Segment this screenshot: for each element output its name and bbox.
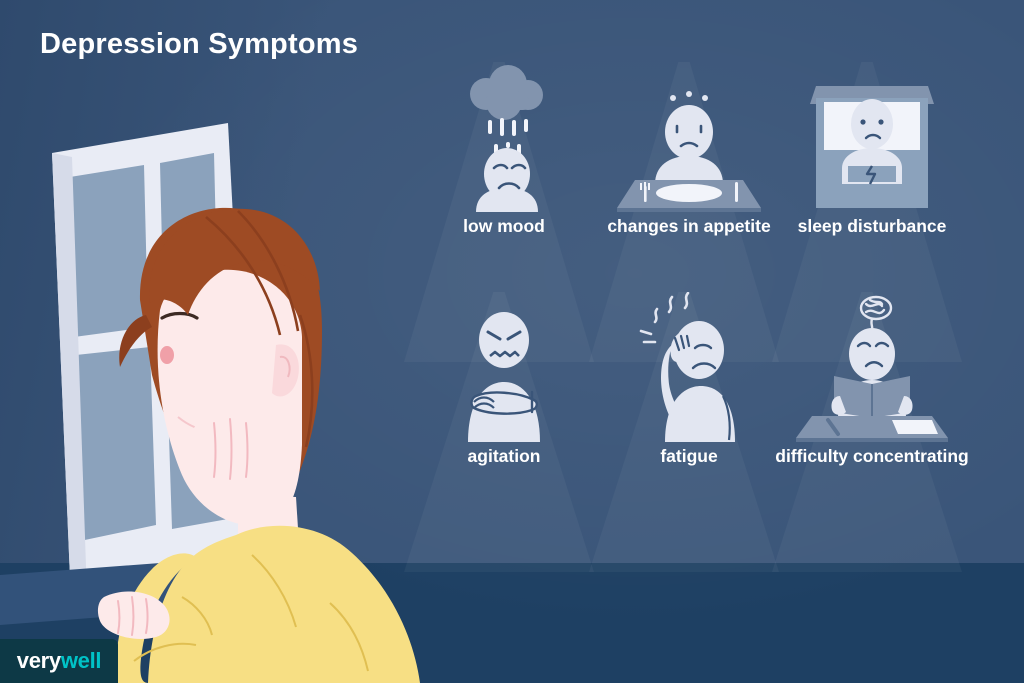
sad-face-rain-cloud-icon bbox=[404, 62, 604, 212]
symptom-card-changes-in-appetite[interactable]: changes in appetite bbox=[589, 62, 789, 238]
logo-text-well: well bbox=[61, 648, 101, 674]
hand bbox=[189, 416, 264, 501]
person-at-table-empty-plate-icon bbox=[589, 62, 789, 212]
symptom-label: sleep disturbance bbox=[772, 216, 972, 238]
page-title: Depression Symptoms bbox=[40, 28, 358, 61]
person-reading-scribble-thought-icon bbox=[772, 292, 972, 442]
symptom-card-fatigue[interactable]: fatigue bbox=[589, 292, 789, 468]
logo-text-very: very bbox=[17, 648, 61, 674]
symptom-label: changes in appetite bbox=[589, 216, 789, 238]
symptom-label: agitation bbox=[404, 446, 604, 468]
tired-person-hand-on-head-icon bbox=[589, 292, 789, 442]
angry-person-crossed-arms-icon bbox=[404, 292, 604, 442]
symptom-card-difficulty-concentrating[interactable]: difficulty concentrating bbox=[772, 292, 972, 468]
symptom-label: low mood bbox=[404, 216, 604, 238]
symptom-label: fatigue bbox=[589, 446, 789, 468]
symptom-label: difficulty concentrating bbox=[772, 446, 972, 468]
symptom-grid: low mood bbox=[404, 62, 1004, 532]
person-awake-in-bed-icon bbox=[772, 62, 972, 212]
mouth bbox=[160, 346, 174, 364]
symptom-card-agitation[interactable]: agitation bbox=[404, 292, 604, 468]
symptom-card-sleep-disturbance[interactable]: sleep disturbance bbox=[772, 62, 972, 238]
woman-illustration bbox=[0, 105, 420, 683]
verywell-logo[interactable]: verywell bbox=[0, 639, 118, 683]
symptom-card-low-mood[interactable]: low mood bbox=[404, 62, 604, 238]
infographic-canvas: Depression Symptoms bbox=[0, 0, 1024, 683]
